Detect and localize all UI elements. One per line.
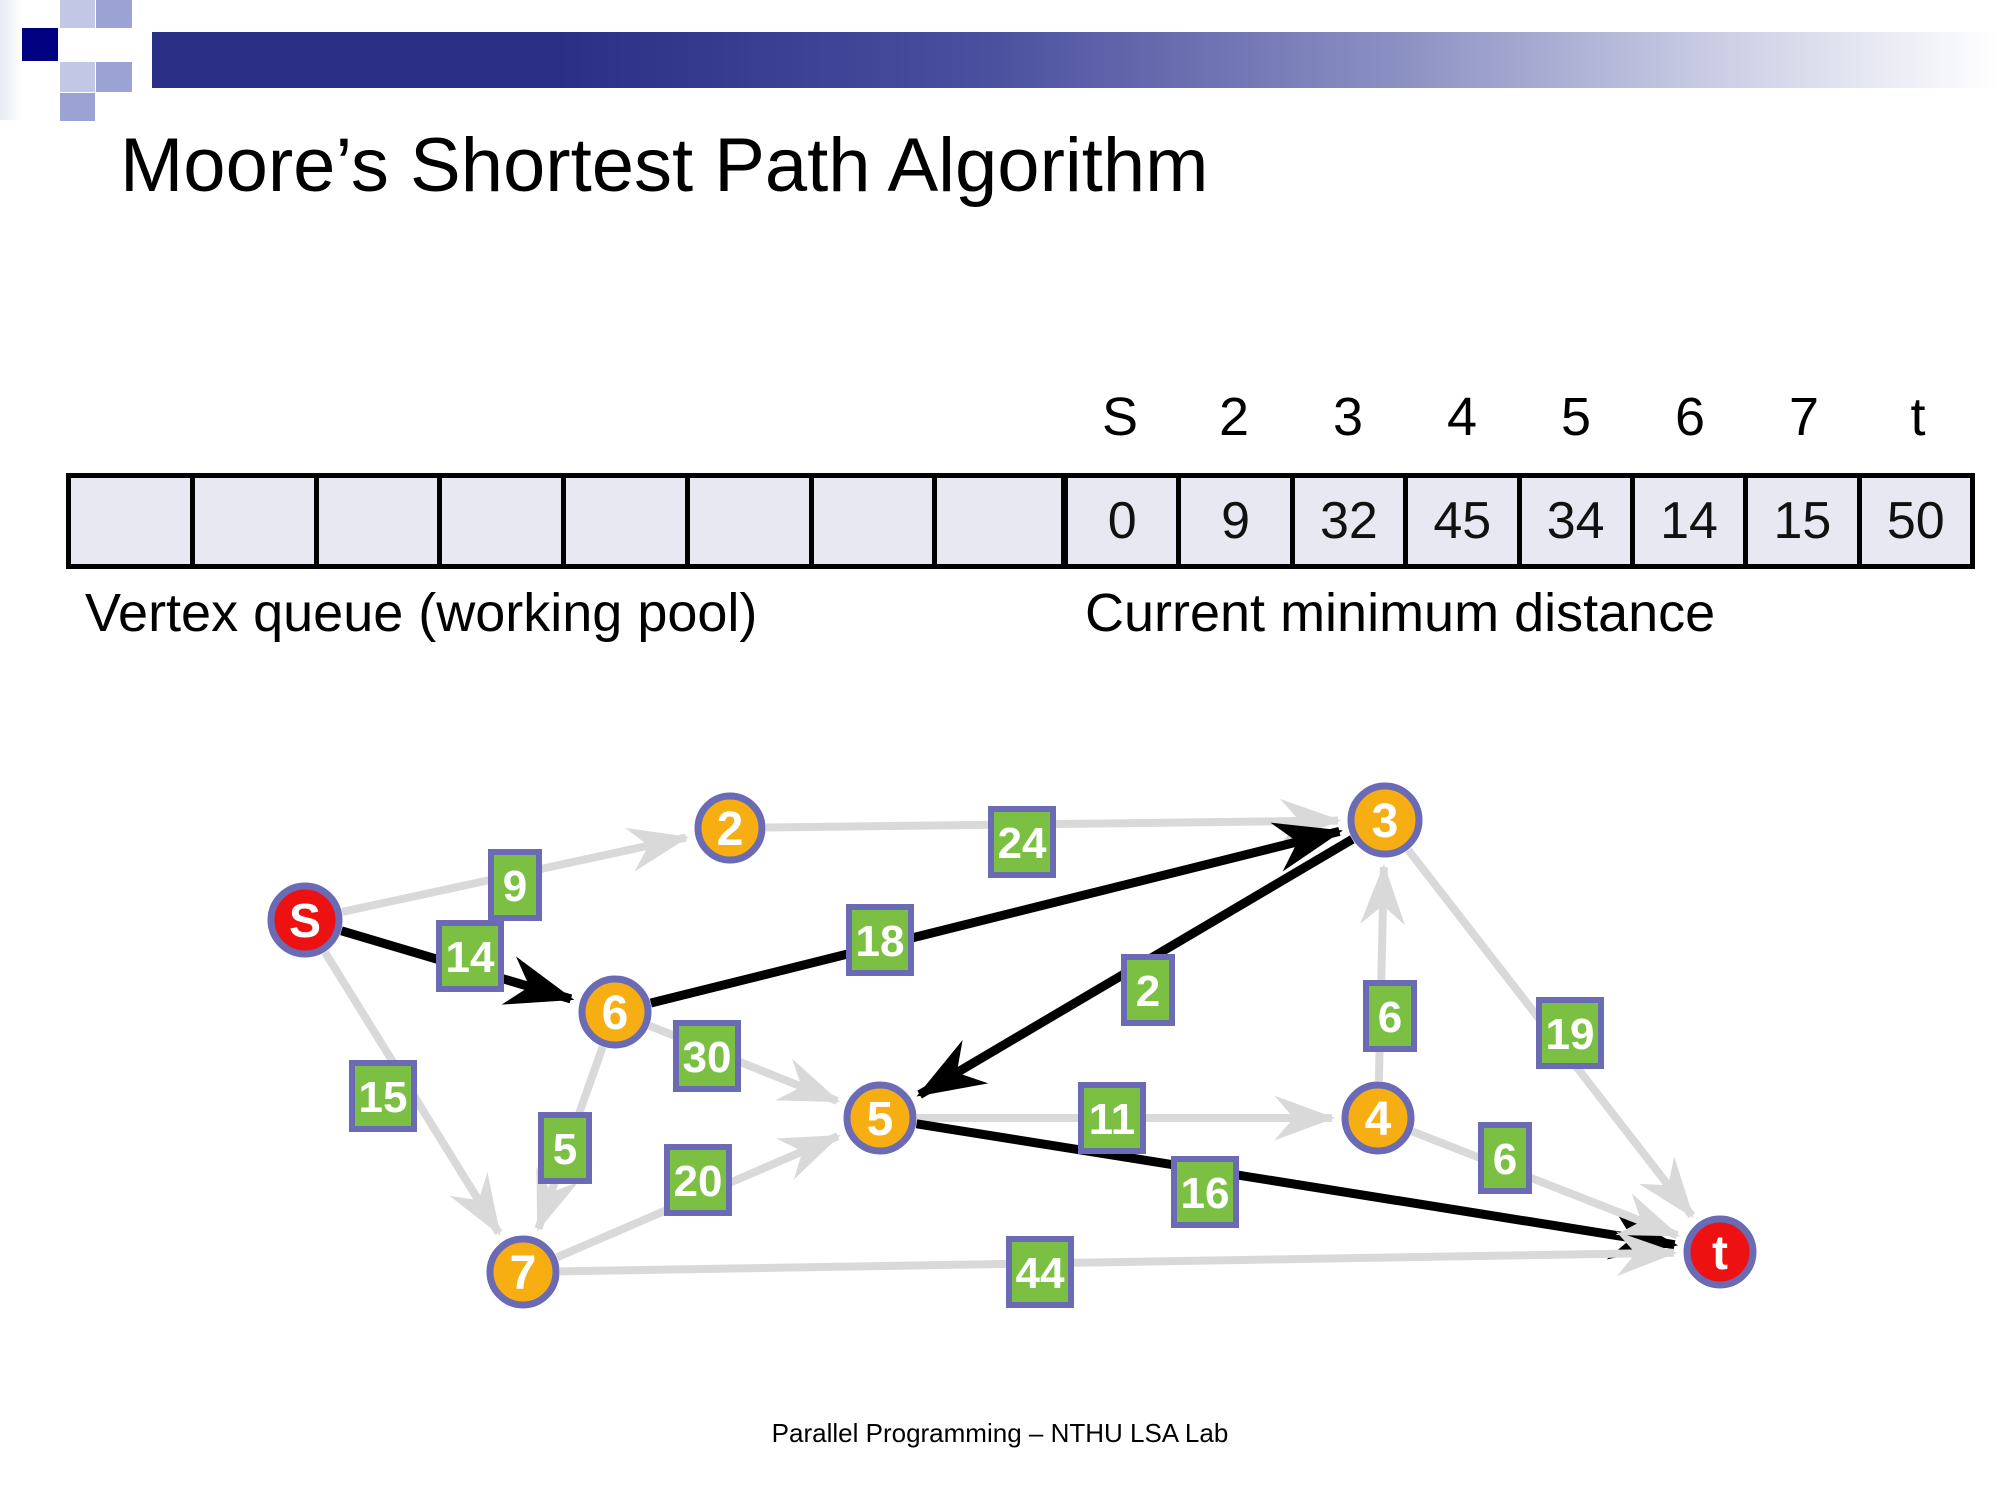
graph-node-label: 3 — [1372, 795, 1399, 848]
edge-weight-text: 6 — [1493, 1135, 1517, 1184]
graph-diagram: 9141524183052196111662044 S236547t — [0, 740, 2000, 1340]
edge-weight-label: 6 — [1366, 983, 1414, 1049]
edge-weight-text: 16 — [1181, 1169, 1230, 1218]
graph-node-6[interactable]: 6 — [582, 979, 648, 1045]
queue-cell[interactable] — [71, 478, 195, 564]
graph-node-label: 4 — [1365, 1093, 1392, 1146]
vertex-queue-table — [66, 473, 1066, 569]
page-title: Moore’s Shortest Path Algorithm — [120, 122, 1208, 209]
edge-weight-text: 9 — [503, 862, 527, 911]
graph-node-5[interactable]: 5 — [847, 1085, 913, 1151]
graph-node-label: 6 — [602, 987, 629, 1040]
queue-cell[interactable] — [566, 478, 690, 564]
header-gradient-bar — [152, 32, 2000, 88]
edge-weight-label: 16 — [1174, 1159, 1236, 1225]
graph-node-t[interactable]: t — [1687, 1219, 1753, 1285]
edge-weight-label: 5 — [541, 1115, 589, 1181]
edge-weight-label: 30 — [676, 1023, 738, 1089]
edge-weight-label: 11 — [1081, 1085, 1143, 1151]
edge-weight-label: 6 — [1481, 1125, 1529, 1191]
queue-cell[interactable] — [814, 478, 938, 564]
graph-node-label: t — [1712, 1227, 1728, 1280]
edge-weight-label: 19 — [1539, 1000, 1601, 1066]
distance-cell[interactable]: 14 — [1635, 478, 1748, 564]
distance-header-cell: 3 — [1291, 377, 1405, 457]
deco-square-lightblue-3 — [60, 62, 95, 92]
graph-node-7[interactable]: 7 — [490, 1239, 556, 1305]
deco-square-white-fade — [0, 0, 22, 120]
distance-header-cell: 4 — [1405, 377, 1519, 457]
distance-header-cell: 6 — [1633, 377, 1747, 457]
graph-node-label: 2 — [717, 803, 744, 856]
edge-weight-text: 6 — [1378, 993, 1402, 1042]
queue-cell[interactable] — [319, 478, 443, 564]
distance-cell[interactable]: 15 — [1748, 478, 1861, 564]
edge-weight-text: 18 — [856, 917, 905, 966]
graph-node-2[interactable]: 2 — [698, 796, 762, 860]
queue-cell[interactable] — [195, 478, 319, 564]
edge-weight-label: 2 — [1124, 957, 1172, 1023]
edge-weight-text: 30 — [683, 1033, 732, 1082]
graph-edge — [917, 1124, 1675, 1245]
queue-cell[interactable] — [442, 478, 566, 564]
distance-header-cell: 2 — [1177, 377, 1291, 457]
graph-node-label: 7 — [510, 1247, 537, 1300]
queue-cell[interactable] — [937, 478, 1061, 564]
edge-weight-label: 20 — [667, 1147, 729, 1213]
edge-weight-label: 44 — [1009, 1239, 1071, 1305]
graph-node-label: 5 — [867, 1093, 894, 1146]
deco-square-lightblue-2 — [96, 0, 132, 28]
header-decoration — [0, 0, 2000, 120]
edge-weight-text: 15 — [359, 1073, 408, 1122]
graph-node-S[interactable]: S — [271, 886, 339, 954]
distance-header-cell: 5 — [1519, 377, 1633, 457]
deco-square-lightblue-1 — [60, 0, 95, 28]
edge-weight-label: 9 — [491, 852, 539, 918]
edge-weight-text: 14 — [446, 933, 495, 982]
distance-table: 0 9 32 45 34 14 15 50 — [1063, 473, 1975, 569]
deco-square-navy — [20, 28, 58, 61]
edge-weight-text: 24 — [998, 819, 1047, 868]
deco-square-lightblue-6 — [96, 28, 132, 62]
edge-weight-label: 14 — [439, 923, 501, 989]
graph-edge — [560, 1253, 1674, 1272]
deco-square-lightblue-5 — [60, 93, 95, 121]
graph-node-label: S — [289, 895, 321, 948]
distance-cell[interactable]: 32 — [1295, 478, 1408, 564]
queue-cell[interactable] — [690, 478, 814, 564]
edge-weight-text: 20 — [674, 1157, 723, 1206]
edge-weight-label: 18 — [849, 907, 911, 973]
distance-header-cell: S — [1063, 377, 1177, 457]
distance-cell[interactable]: 45 — [1408, 478, 1521, 564]
distance-cell[interactable]: 34 — [1522, 478, 1635, 564]
edge-weight-text: 11 — [1089, 1095, 1136, 1144]
vertex-queue-caption: Vertex queue (working pool) — [85, 582, 757, 644]
graph-node-4[interactable]: 4 — [1345, 1085, 1411, 1151]
footer-text: Parallel Programming – NTHU LSA Lab — [0, 1418, 2000, 1449]
edge-weight-text: 5 — [553, 1125, 577, 1174]
edge-weight-label: 15 — [352, 1063, 414, 1129]
graph-node-3[interactable]: 3 — [1351, 786, 1419, 854]
distance-table-caption: Current minimum distance — [1085, 582, 1715, 644]
deco-square-lightblue-4 — [96, 62, 132, 92]
distance-cell[interactable]: 0 — [1068, 478, 1181, 564]
distance-header-cell: t — [1861, 377, 1975, 457]
distance-cell[interactable]: 50 — [1862, 478, 1970, 564]
distance-header-cell: 7 — [1747, 377, 1861, 457]
edge-weight-text: 2 — [1136, 967, 1160, 1016]
edge-weight-text: 19 — [1546, 1010, 1595, 1059]
distance-table-headers: S 2 3 4 5 6 7 t — [1063, 377, 1975, 457]
distance-cell[interactable]: 9 — [1181, 478, 1294, 564]
edge-weight-text: 44 — [1016, 1249, 1065, 1298]
edge-weight-label: 24 — [991, 809, 1053, 875]
